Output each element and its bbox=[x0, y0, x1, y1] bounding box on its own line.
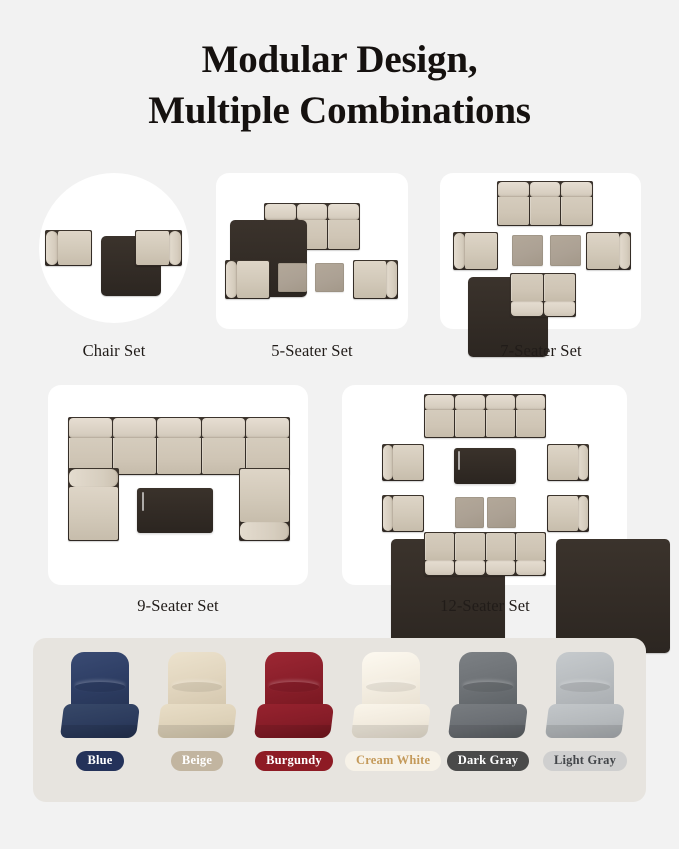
cushion-seat bbox=[448, 704, 528, 738]
armchair-cushion bbox=[393, 445, 423, 480]
armchair-cushion bbox=[548, 496, 578, 531]
sofa-4seat-top-view bbox=[424, 394, 546, 438]
armchair-arm bbox=[619, 233, 630, 269]
color-label-pill: Blue bbox=[76, 751, 123, 771]
color-label-pill: Cream White bbox=[345, 751, 441, 771]
glass-coffee-table-top-view bbox=[137, 488, 213, 533]
sofa-back-cushions bbox=[425, 560, 545, 575]
cushion-seat bbox=[157, 704, 237, 738]
armchair-top-view bbox=[547, 444, 589, 481]
set-card-7-seater-set[interactable] bbox=[440, 173, 641, 329]
armchair-cushion bbox=[587, 233, 619, 269]
armchair-top-view bbox=[547, 495, 589, 532]
armchair-arm bbox=[578, 496, 588, 531]
armchair-top-view bbox=[453, 232, 498, 270]
armchair-top-view bbox=[45, 230, 92, 266]
armchair-arm bbox=[226, 261, 237, 298]
cushion-preview bbox=[254, 652, 334, 744]
armchair-arm bbox=[386, 261, 397, 298]
glass-surface bbox=[142, 492, 144, 511]
sectional-arm bbox=[240, 522, 289, 540]
ottoman-top-view bbox=[487, 497, 516, 528]
armchair-cushion bbox=[354, 261, 386, 298]
armchair-cushion bbox=[58, 231, 91, 265]
sofa-seat-cushions bbox=[425, 533, 545, 560]
sectional-right-run bbox=[239, 468, 290, 541]
sofa-seat-cushions bbox=[425, 410, 545, 437]
glass-coffee-table-top-view bbox=[454, 448, 516, 484]
sofa-back-cushions bbox=[265, 204, 359, 220]
armchair-arm bbox=[383, 445, 393, 480]
sofa-back-cushions bbox=[425, 395, 545, 410]
armchair-arm bbox=[169, 231, 181, 265]
sofa-seat-cushions bbox=[498, 197, 592, 225]
glass-surface bbox=[458, 451, 460, 470]
sofa-back-cushions bbox=[498, 182, 592, 197]
sofa-back-cushions bbox=[69, 418, 289, 438]
sofa-seat-cushions bbox=[511, 274, 575, 301]
armchair-top-view bbox=[382, 495, 424, 532]
armchair-cushion bbox=[465, 233, 497, 269]
sectional-back-run bbox=[68, 417, 290, 475]
sectional-cushion bbox=[240, 469, 289, 522]
cushion-seat bbox=[545, 704, 625, 738]
color-label-pill: Burgundy bbox=[255, 751, 333, 771]
cushion-preview bbox=[60, 652, 140, 744]
sectional-arm bbox=[69, 469, 118, 487]
set-label-9-seater-set: 9-Seater Set bbox=[88, 596, 268, 616]
armchair-top-view bbox=[353, 260, 398, 299]
ottoman-top-view bbox=[315, 263, 344, 292]
cushion-seat bbox=[351, 704, 431, 738]
ottoman-top-view bbox=[512, 235, 543, 266]
title-line-2: Multiple Combinations bbox=[0, 85, 679, 136]
title-line-1: Modular Design, bbox=[202, 38, 478, 81]
color-label-pill: Beige bbox=[171, 751, 223, 771]
color-swatch-cream-white[interactable]: Cream White bbox=[345, 652, 437, 771]
page-title: Modular Design, Multiple Combinations bbox=[0, 34, 679, 137]
cushion-seat bbox=[254, 704, 334, 738]
set-label-5-seater-set: 5-Seater Set bbox=[222, 341, 402, 361]
armchair-top-view bbox=[135, 230, 182, 266]
sofa-3seat-top-view bbox=[497, 181, 593, 226]
color-swatch-blue[interactable]: Blue bbox=[54, 652, 146, 771]
color-swatch-burgundy[interactable]: Burgundy bbox=[248, 652, 340, 771]
set-label-chair-set: Chair Set bbox=[24, 341, 204, 361]
armchair-arm bbox=[46, 231, 58, 265]
sofa-back-cushions bbox=[511, 301, 575, 316]
ottoman-top-view bbox=[455, 497, 484, 528]
color-swatch-light-gray[interactable]: Light Gray bbox=[539, 652, 631, 771]
infographic-page: Modular Design, Multiple Combinations Ch… bbox=[0, 0, 679, 849]
color-label-pill: Light Gray bbox=[543, 751, 627, 771]
set-card-5-seater-set[interactable] bbox=[216, 173, 408, 329]
sectional-cushion bbox=[69, 487, 118, 540]
armchair-top-view bbox=[225, 260, 270, 299]
armchair-cushion bbox=[548, 445, 578, 480]
cushion-preview bbox=[157, 652, 237, 744]
cushion-preview bbox=[545, 652, 625, 744]
armchair-arm bbox=[578, 445, 588, 480]
set-label-12-seater-set: 12-Seater Set bbox=[395, 596, 575, 616]
cushion-preview bbox=[351, 652, 431, 744]
sofa-2seat-top-view bbox=[510, 273, 576, 317]
color-swatch-dark-gray[interactable]: Dark Gray bbox=[442, 652, 534, 771]
armchair-arm bbox=[454, 233, 465, 269]
ottoman-top-view bbox=[278, 263, 307, 292]
cushion-seat bbox=[60, 704, 140, 738]
armchair-cushion bbox=[237, 261, 269, 298]
sofa-4seat-top-view bbox=[424, 532, 546, 576]
cushion-preview bbox=[448, 652, 528, 744]
set-label-7-seater-set: 7-Seater Set bbox=[451, 341, 631, 361]
armchair-top-view bbox=[382, 444, 424, 481]
sectional-left-run bbox=[68, 468, 119, 541]
armchair-cushion bbox=[393, 496, 423, 531]
ottoman-top-view bbox=[550, 235, 581, 266]
color-label-pill: Dark Gray bbox=[447, 751, 529, 771]
set-card-12-seater-set[interactable] bbox=[342, 385, 627, 585]
color-options-panel: Blue Beige Burgundy Cream White bbox=[33, 638, 646, 802]
armchair-arm bbox=[383, 496, 393, 531]
armchair-top-view bbox=[586, 232, 631, 270]
color-swatch-beige[interactable]: Beige bbox=[151, 652, 243, 771]
set-card-chair-set[interactable] bbox=[39, 173, 189, 323]
armchair-cushion bbox=[136, 231, 169, 265]
set-card-9-seater-set[interactable] bbox=[48, 385, 308, 585]
